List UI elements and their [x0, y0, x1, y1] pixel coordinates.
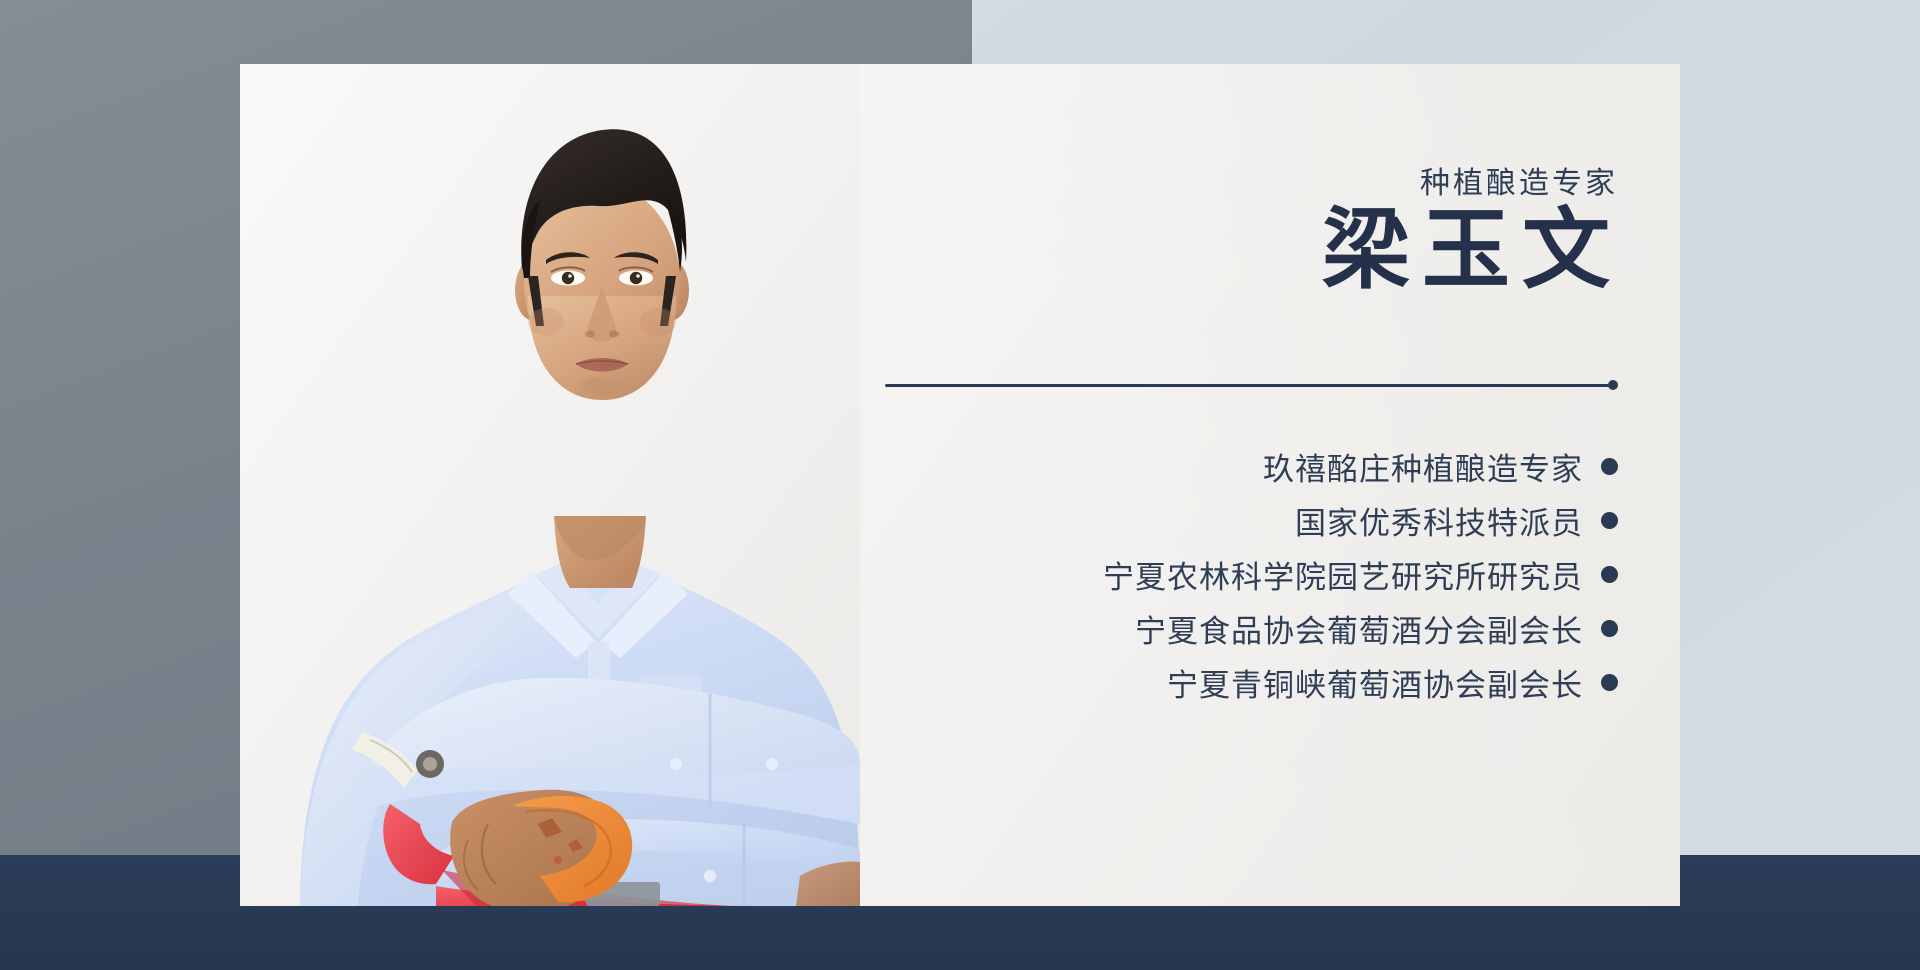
divider-rule — [885, 384, 1609, 387]
person-name: 梁玉文 — [1322, 199, 1622, 305]
card-text-column: 种植酿造专家 梁玉文 玖禧酩庄种植酿造专家 国家优秀科技特派员 宁夏农林科学院园… — [840, 64, 1680, 906]
credential-label: 宁夏农林科学院园艺研究所研究员 — [1103, 552, 1583, 597]
credential-label: 宁夏青铜峡葡萄酒协会副会长 — [1167, 660, 1583, 705]
credential-label: 宁夏食品协会葡萄酒分会副会长 — [1135, 606, 1583, 651]
portrait-photo — [240, 64, 860, 906]
list-item: 玖禧酩庄种植酿造专家 — [1263, 439, 1618, 493]
list-item: 宁夏农林科学院园艺研究所研究员 — [1103, 547, 1618, 601]
bullet-dot-icon — [1601, 566, 1618, 583]
bullet-dot-icon — [1601, 674, 1618, 691]
role-title: 种植酿造专家 — [1420, 158, 1618, 202]
credential-label: 国家优秀科技特派员 — [1295, 498, 1583, 543]
list-item: 国家优秀科技特派员 — [1295, 493, 1618, 547]
bullet-dot-icon — [1601, 458, 1618, 475]
credential-label: 玖禧酩庄种植酿造专家 — [1263, 444, 1583, 489]
bullet-dot-icon — [1601, 512, 1618, 529]
list-item: 宁夏食品协会葡萄酒分会副会长 — [1135, 601, 1618, 655]
divider-end-dot — [1608, 380, 1618, 390]
credentials-list: 玖禧酩庄种植酿造专家 国家优秀科技特派员 宁夏农林科学院园艺研究所研究员 宁夏食… — [1103, 439, 1618, 709]
bullet-dot-icon — [1601, 620, 1618, 637]
list-item: 宁夏青铜峡葡萄酒协会副会长 — [1167, 655, 1618, 709]
poster-stage: 种植酿造专家 梁玉文 玖禧酩庄种植酿造专家 国家优秀科技特派员 宁夏农林科学院园… — [0, 0, 1920, 970]
divider — [885, 383, 1618, 387]
profile-card: 种植酿造专家 梁玉文 玖禧酩庄种植酿造专家 国家优秀科技特派员 宁夏农林科学院园… — [240, 64, 1680, 906]
